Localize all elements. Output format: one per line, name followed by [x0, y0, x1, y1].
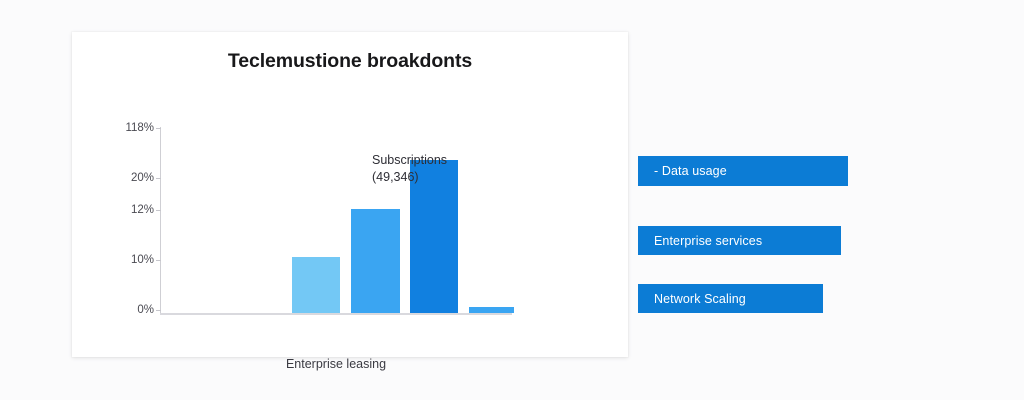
chart-bar-1[interactable]	[292, 257, 340, 313]
y-axis-tick-label: 10%	[92, 254, 154, 266]
bar-annotation-line1: Subscriptions	[372, 152, 447, 169]
x-axis-label: Enterprise leasing	[160, 357, 512, 371]
chart-bar-2[interactable]	[351, 209, 400, 313]
y-axis-tick-mark	[156, 178, 161, 179]
legend-item-1[interactable]: - Data usage	[638, 156, 848, 186]
plot-area: 118%20%12%10%0% Subscriptions (49,346) E…	[72, 32, 628, 357]
legend-panel: - Data usageEnterprise servicesNetwork S…	[638, 0, 938, 400]
bar-annotation-line2: (49,346)	[372, 169, 447, 186]
y-axis-tick-mark	[156, 128, 161, 129]
y-axis-tick-label: 0%	[92, 304, 154, 316]
y-axis-tick-label: 20%	[92, 172, 154, 184]
legend-item-label: Enterprise services	[654, 234, 762, 248]
bar-annotation: Subscriptions (49,346)	[372, 152, 447, 186]
chart-card: Teclemustione broakdonts 118%20%12%10%0%…	[72, 32, 628, 357]
x-axis-line	[160, 313, 512, 315]
y-axis-tick-mark	[156, 310, 161, 311]
legend-item-2[interactable]: Enterprise services	[638, 226, 841, 255]
legend-item-label: Network Scaling	[654, 292, 746, 306]
legend-item-3[interactable]: Network Scaling	[638, 284, 823, 313]
y-axis-tick-label: 118%	[92, 122, 154, 134]
y-axis-line	[160, 127, 161, 314]
y-axis-tick-mark	[156, 260, 161, 261]
y-axis-tick-label: 12%	[92, 204, 154, 216]
y-axis-tick-mark	[156, 210, 161, 211]
chart-bar-4[interactable]	[469, 307, 514, 313]
legend-item-label: - Data usage	[654, 164, 727, 178]
